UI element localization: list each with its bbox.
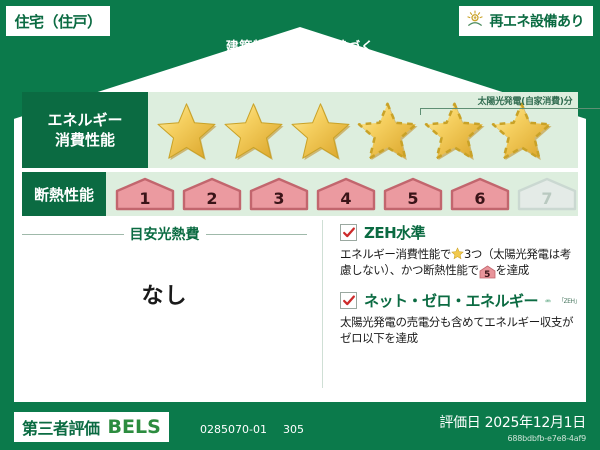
inline-star-icon xyxy=(451,247,464,260)
insulation-level-badge: 2 xyxy=(181,177,243,211)
solar-sun-icon xyxy=(465,9,485,33)
energy-label-line2: 消費性能 xyxy=(55,130,115,150)
utility-cost-title: 目安光熱費 xyxy=(130,224,200,244)
insulation-level-value: 4 xyxy=(340,189,351,208)
insulation-level-value: 7 xyxy=(541,189,552,208)
evaluation-date-block: 評価日 2025年12月1日 688bdbfb-e7e8-4af9 xyxy=(439,412,586,443)
zeh-standard-header: ZEH水準 xyxy=(340,222,580,243)
star-icon-filled xyxy=(288,100,353,162)
inline-badge-value: 5 xyxy=(484,270,490,280)
net-zero-title: ネット・ゼロ・エネルギー xyxy=(364,290,538,311)
utility-cost-value: なし xyxy=(22,278,307,310)
utility-cost-section: 目安光熱費 なし xyxy=(22,224,307,310)
divider-right xyxy=(206,234,308,235)
insulation-label-text: 断熱性能 xyxy=(34,184,94,205)
criteria-section: ZEH水準 エネルギー消費性能で3つ（太陽光発電は考慮しない）、かつ断熱性能で5… xyxy=(340,222,580,357)
insulation-level-value: 6 xyxy=(474,189,485,208)
insulation-level-badge: 3 xyxy=(248,177,310,211)
zeh-standard-description: エネルギー消費性能で3つ（太陽光発電は考慮しない）、かつ断熱性能で5を達成 xyxy=(340,246,580,279)
insulation-level-value: 3 xyxy=(273,189,284,208)
title-main: 省エネ性能ラベル xyxy=(0,57,600,92)
certificate-sub-number: 305 xyxy=(283,423,304,436)
star-icon-solar xyxy=(355,100,420,162)
document-hash: 688bdbfb-e7e8-4af9 xyxy=(439,434,586,443)
insulation-level-badge: 6 xyxy=(449,177,511,211)
check-icon xyxy=(342,226,356,240)
insulation-performance-row: 断熱性能 1234567 xyxy=(22,172,578,216)
svg-text:ZEH: ZEH xyxy=(546,300,550,302)
insulation-level-value: 5 xyxy=(407,189,418,208)
vertical-divider xyxy=(322,220,323,388)
insulation-level-badge: 1 xyxy=(114,177,176,211)
insulation-level-value: 1 xyxy=(139,189,150,208)
insulation-level-value: 2 xyxy=(206,189,217,208)
net-zero-description: 太陽光発電の売電分も含めてエネルギー収支がゼロ以下を達成 xyxy=(340,314,580,346)
zeh-house-logo-icon: ZEH xyxy=(545,290,551,311)
evaluation-date-value: 2025年12月1日 xyxy=(485,415,586,431)
certificate-numbers: 0285070-01 305 xyxy=(200,423,304,436)
renewable-equipment-badge: 再エネ設備あり xyxy=(459,6,594,36)
evaluation-date-label: 評価日 xyxy=(439,415,480,431)
zeh-desc-post: を達成 xyxy=(496,263,529,277)
insulation-performance-label: 断熱性能 xyxy=(22,172,106,216)
checkbox-zeh-standard[interactable] xyxy=(340,224,357,241)
star-icon-filled xyxy=(221,100,286,162)
zeh-trademark-label: 「ZEH」 xyxy=(558,296,580,305)
energy-performance-label: エネルギー 消費性能 xyxy=(22,92,148,168)
criteria-zeh-standard: ZEH水準 エネルギー消費性能で3つ（太陽光発電は考慮しない）、かつ断熱性能で5… xyxy=(340,222,580,279)
insulation-levels: 1234567 xyxy=(106,172,578,216)
third-party-eval-label: 第三者評価 xyxy=(22,415,100,439)
renewable-badge-label: 再エネ設備あり xyxy=(490,11,585,31)
energy-stars-area: 太陽光発電(自家消費)分 xyxy=(148,92,578,168)
solar-portion-bracket: 太陽光発電(自家消費)分 xyxy=(420,94,600,115)
title-subtitle: 建築物省エネ法に基づく xyxy=(0,36,600,55)
evaluation-date: 評価日 2025年12月1日 xyxy=(439,412,586,432)
star-icon-filled xyxy=(154,100,219,162)
bels-logo-text: BELS xyxy=(108,416,161,438)
checkbox-net-zero[interactable] xyxy=(340,292,357,309)
bels-footer-badge: 第三者評価 BELS xyxy=(14,412,169,442)
energy-performance-label: 住宅（住戸） 再エネ設備あり 建築物省エネ法に基づく 省エネ性能ラベル xyxy=(0,0,600,450)
energy-label-line1: エネルギー xyxy=(47,110,122,130)
bracket-line xyxy=(420,108,600,115)
utility-cost-heading: 目安光熱費 xyxy=(22,224,307,244)
building-type-tag: 住宅（住戸） xyxy=(6,6,110,36)
zeh-standard-title: ZEH水準 xyxy=(364,222,425,243)
zeh-desc-pre: エネルギー消費性能で xyxy=(340,247,451,261)
label-title: 建築物省エネ法に基づく 省エネ性能ラベル xyxy=(0,36,600,92)
check-icon xyxy=(342,294,356,308)
divider-left xyxy=(22,234,124,235)
solar-bracket-label: 太陽光発電(自家消費)分 xyxy=(420,94,600,107)
inline-insulation-badge: 5 xyxy=(479,265,496,279)
certificate-number: 0285070-01 xyxy=(200,423,267,436)
criteria-net-zero-energy: ネット・ゼロ・エネルギー ZEH 「ZEH」 太陽光発電の売電分も含めてエネルギ… xyxy=(340,290,580,346)
energy-performance-row: エネルギー 消費性能 太陽光発電(自家消費)分 xyxy=(22,92,578,168)
insulation-level-badge: 5 xyxy=(382,177,444,211)
insulation-level-badge: 4 xyxy=(315,177,377,211)
insulation-level-badge: 7 xyxy=(516,177,578,211)
building-type-label: 住宅（住戸） xyxy=(14,11,101,32)
net-zero-header: ネット・ゼロ・エネルギー ZEH 「ZEH」 xyxy=(340,290,580,311)
label-content: エネルギー 消費性能 太陽光発電(自家消費)分 断熱性能 1234567 目安 xyxy=(22,92,578,394)
